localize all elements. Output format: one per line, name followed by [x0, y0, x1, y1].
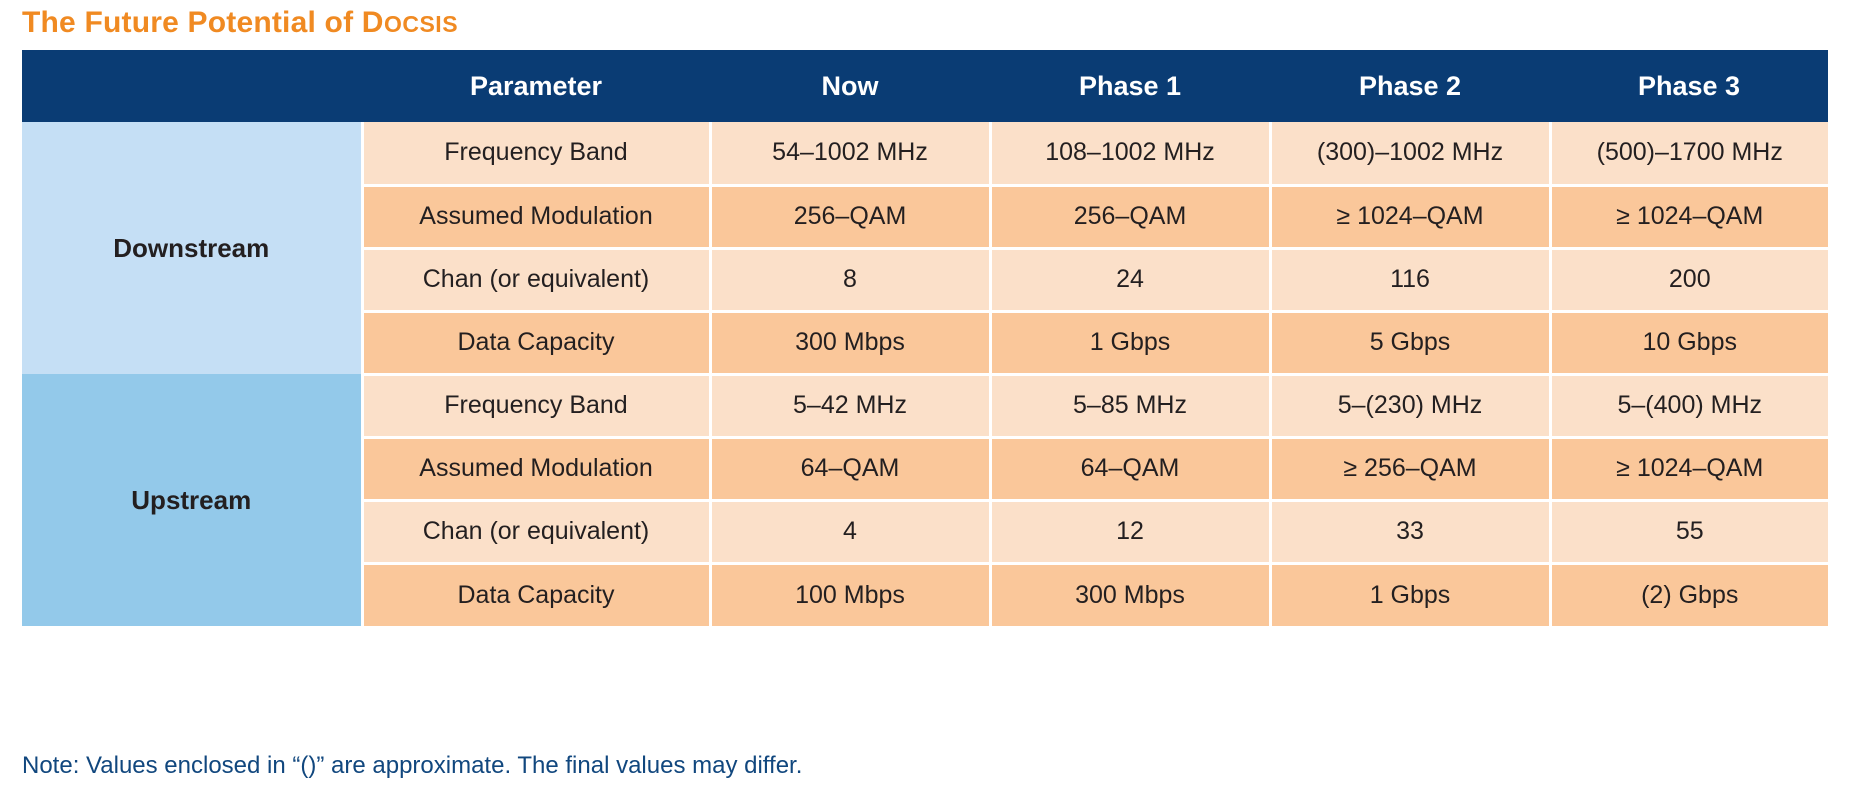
- docsis-table-page: The Future Potential of DOCSIS Parameter…: [0, 0, 1850, 800]
- column-header-now: Now: [710, 50, 990, 122]
- table-row: Downstream Frequency Band 54–1002 MHz 10…: [22, 122, 1828, 185]
- cell-phase-1: 108–1002 MHz: [990, 122, 1270, 185]
- page-title-lead: The Future Potential of: [22, 6, 362, 39]
- cell-phase-2: ≥ 1024–QAM: [1270, 185, 1550, 248]
- cell-parameter: Chan (or equivalent): [362, 500, 710, 563]
- column-header-phase-2: Phase 2: [1270, 50, 1550, 122]
- cell-phase-1: 300 Mbps: [990, 563, 1270, 626]
- cell-now: 256–QAM: [710, 185, 990, 248]
- column-header-phase-1: Phase 1: [990, 50, 1270, 122]
- cell-parameter: Chan (or equivalent): [362, 248, 710, 311]
- cell-phase-3: (2) Gbps: [1550, 563, 1828, 626]
- docsis-comparison-table: Parameter Now Phase 1 Phase 2 Phase 3 Do…: [22, 50, 1828, 626]
- cell-parameter: Assumed Modulation: [362, 185, 710, 248]
- cell-phase-2: ≥ 256–QAM: [1270, 437, 1550, 500]
- cell-now: 64–QAM: [710, 437, 990, 500]
- table-container: Parameter Now Phase 1 Phase 2 Phase 3 Do…: [22, 50, 1828, 626]
- column-header-section: [22, 50, 362, 122]
- section-label-upstream: Upstream: [22, 374, 362, 626]
- page-title: The Future Potential of DOCSIS: [22, 6, 458, 40]
- cell-parameter: Frequency Band: [362, 122, 710, 185]
- header-row: Parameter Now Phase 1 Phase 2 Phase 3: [22, 50, 1828, 122]
- cell-phase-1: 24: [990, 248, 1270, 311]
- cell-phase-2: 5–(230) MHz: [1270, 374, 1550, 437]
- table-header: Parameter Now Phase 1 Phase 2 Phase 3: [22, 50, 1828, 122]
- cell-phase-1: 12: [990, 500, 1270, 563]
- cell-phase-2: 5 Gbps: [1270, 311, 1550, 374]
- cell-phase-1: 256–QAM: [990, 185, 1270, 248]
- cell-parameter: Data Capacity: [362, 563, 710, 626]
- cell-phase-1: 5–85 MHz: [990, 374, 1270, 437]
- table-footnote: Note: Values enclosed in “()” are approx…: [22, 752, 802, 780]
- cell-phase-3: 55: [1550, 500, 1828, 563]
- section-label-downstream: Downstream: [22, 122, 362, 374]
- page-title-acronym: DOCSIS: [362, 11, 458, 38]
- table-body: Downstream Frequency Band 54–1002 MHz 10…: [22, 122, 1828, 626]
- cell-phase-3: ≥ 1024–QAM: [1550, 437, 1828, 500]
- cell-now: 8: [710, 248, 990, 311]
- cell-now: 100 Mbps: [710, 563, 990, 626]
- cell-phase-3: 200: [1550, 248, 1828, 311]
- cell-phase-2: (300)–1002 MHz: [1270, 122, 1550, 185]
- cell-parameter: Frequency Band: [362, 374, 710, 437]
- cell-phase-3: 10 Gbps: [1550, 311, 1828, 374]
- cell-phase-3: 5–(400) MHz: [1550, 374, 1828, 437]
- column-header-parameter: Parameter: [362, 50, 710, 122]
- cell-phase-2: 116: [1270, 248, 1550, 311]
- cell-phase-3: ≥ 1024–QAM: [1550, 185, 1828, 248]
- column-header-phase-3: Phase 3: [1550, 50, 1828, 122]
- cell-phase-2: 1 Gbps: [1270, 563, 1550, 626]
- cell-parameter: Assumed Modulation: [362, 437, 710, 500]
- cell-phase-3: (500)–1700 MHz: [1550, 122, 1828, 185]
- cell-now: 54–1002 MHz: [710, 122, 990, 185]
- cell-now: 5–42 MHz: [710, 374, 990, 437]
- cell-parameter: Data Capacity: [362, 311, 710, 374]
- cell-now: 4: [710, 500, 990, 563]
- cell-phase-1: 64–QAM: [990, 437, 1270, 500]
- cell-phase-1: 1 Gbps: [990, 311, 1270, 374]
- cell-phase-2: 33: [1270, 500, 1550, 563]
- cell-now: 300 Mbps: [710, 311, 990, 374]
- table-row: Upstream Frequency Band 5–42 MHz 5–85 MH…: [22, 374, 1828, 437]
